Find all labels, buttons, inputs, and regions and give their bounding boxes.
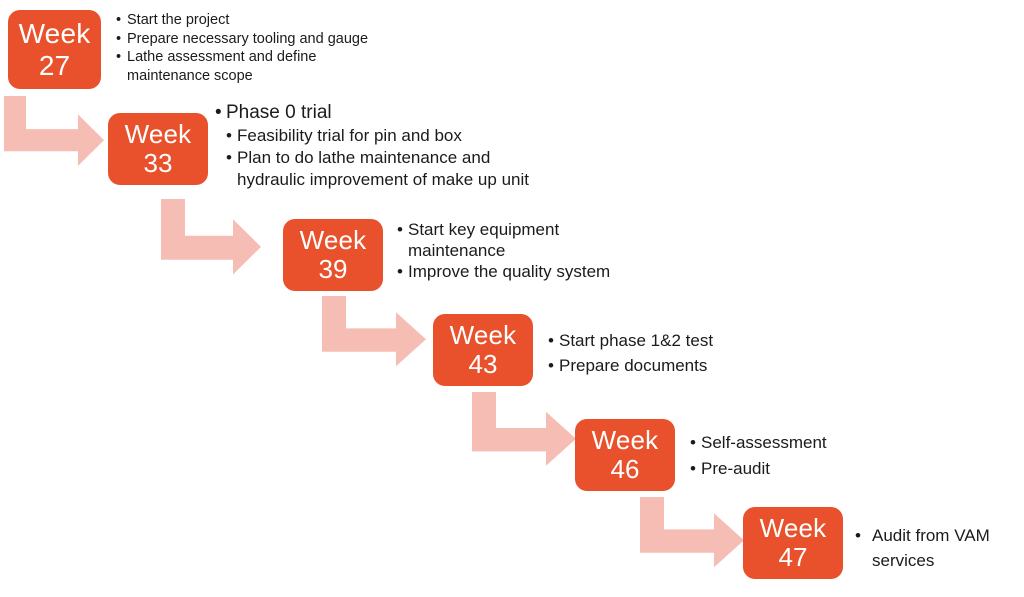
bullet-dot-icon: • xyxy=(226,147,232,169)
bullet-text: Start phase 1&2 test xyxy=(559,331,713,350)
arrow-39-to-43 xyxy=(322,296,426,368)
bullet-item: • Audit from VAM services xyxy=(855,523,1015,573)
arrow-shape xyxy=(4,96,104,166)
bullet-text: Lathe assessment and define maintenance … xyxy=(127,49,316,84)
arrow-43-to-46 xyxy=(472,392,576,468)
bullets-week-39: • Start key equipment maintenance • Impr… xyxy=(397,219,697,282)
week-box-47-number: 47 xyxy=(779,543,808,572)
bullet-text: Audit from VAM services xyxy=(872,526,990,570)
week-box-33[interactable]: Week 33 xyxy=(108,113,208,185)
bullets-week-43: • Start phase 1&2 test • Prepare documen… xyxy=(548,328,848,378)
bullet-item: • Start phase 1&2 test xyxy=(548,328,848,353)
bullet-dot-icon: • xyxy=(397,261,403,282)
week-box-47-word: Week xyxy=(760,514,827,543)
bullet-dot-icon: • xyxy=(690,456,696,482)
bullet-item: • Start key equipment maintenance xyxy=(397,219,593,261)
arrow-33-to-39 xyxy=(161,199,261,275)
bullet-dot-icon: • xyxy=(215,101,222,125)
bullets-week-47: • Audit from VAM services xyxy=(855,523,1015,573)
bullet-text: Feasibility trial for pin and box xyxy=(237,126,462,145)
week-box-33-word: Week xyxy=(125,120,192,149)
week-box-39-word: Week xyxy=(300,226,367,255)
arrow-shape xyxy=(640,497,744,567)
bullets-week-27: • Start the project • Prepare necessary … xyxy=(116,11,446,85)
arrow-shape xyxy=(322,296,426,366)
arrow-27-to-33 xyxy=(4,98,104,170)
bullet-item: • Feasibility trial for pin and box xyxy=(215,125,535,147)
bullet-dot-icon: • xyxy=(690,430,696,456)
week-box-39-number: 39 xyxy=(319,255,348,284)
week-box-27[interactable]: Week 27 xyxy=(8,10,101,89)
bullet-dot-icon: • xyxy=(116,11,121,30)
bullet-dot-icon: • xyxy=(548,353,554,378)
bullet-item: • Plan to do lathe maintenance and hydra… xyxy=(215,147,537,191)
arrow-shape xyxy=(161,199,261,274)
bullet-dot-icon: • xyxy=(116,30,121,49)
week-box-46[interactable]: Week 46 xyxy=(575,419,675,491)
bullet-text: Plan to do lathe maintenance and hydraul… xyxy=(237,148,529,189)
week-box-27-number: 27 xyxy=(39,50,70,81)
week-box-27-word: Week xyxy=(19,18,91,49)
bullet-item: • Prepare documents xyxy=(548,353,848,378)
bullet-text: Phase 0 trial xyxy=(226,102,332,123)
bullet-text: Start the project xyxy=(127,12,229,28)
arrow-shape xyxy=(472,392,576,466)
bullets-week-46: • Self-assessment • Pre-audit xyxy=(690,430,990,482)
bullet-text: Improve the quality system xyxy=(408,262,610,281)
bullet-text: Prepare documents xyxy=(559,356,707,375)
bullet-item: • Prepare necessary tooling and gauge xyxy=(116,30,446,49)
bullet-dot-icon: • xyxy=(548,328,554,353)
week-box-33-number: 33 xyxy=(144,149,173,178)
bullet-dot-icon: • xyxy=(116,48,121,67)
week-box-43-number: 43 xyxy=(469,350,498,379)
bullet-text: Start key equipment maintenance xyxy=(408,220,559,260)
bullet-dot-icon: • xyxy=(226,125,232,147)
week-box-46-word: Week xyxy=(592,426,659,455)
bullet-text: Pre-audit xyxy=(701,459,770,478)
week-box-43[interactable]: Week 43 xyxy=(433,314,533,386)
bullet-item: • Start the project xyxy=(116,11,446,30)
bullet-dot-icon: • xyxy=(397,219,403,240)
bullet-item: • Phase 0 trial xyxy=(215,101,535,125)
arrow-46-to-47 xyxy=(640,497,744,569)
week-box-39[interactable]: Week 39 xyxy=(283,219,383,291)
bullet-text: Self-assessment xyxy=(701,433,827,452)
bullet-item: • Lathe assessment and define maintenanc… xyxy=(116,48,362,85)
bullet-item: • Pre-audit xyxy=(690,456,990,482)
timeline-diagram: Week 27 • Start the project • Prepare ne… xyxy=(0,0,1024,597)
week-box-47[interactable]: Week 47 xyxy=(743,507,843,579)
bullet-item: • Improve the quality system xyxy=(397,261,697,282)
week-box-46-number: 46 xyxy=(611,455,640,484)
bullet-dot-icon: • xyxy=(855,523,861,548)
week-box-43-word: Week xyxy=(450,321,517,350)
bullet-item: • Self-assessment xyxy=(690,430,990,456)
bullet-text: Prepare necessary tooling and gauge xyxy=(127,31,368,47)
bullets-week-33: • Phase 0 trial • Feasibility trial for … xyxy=(215,101,535,191)
